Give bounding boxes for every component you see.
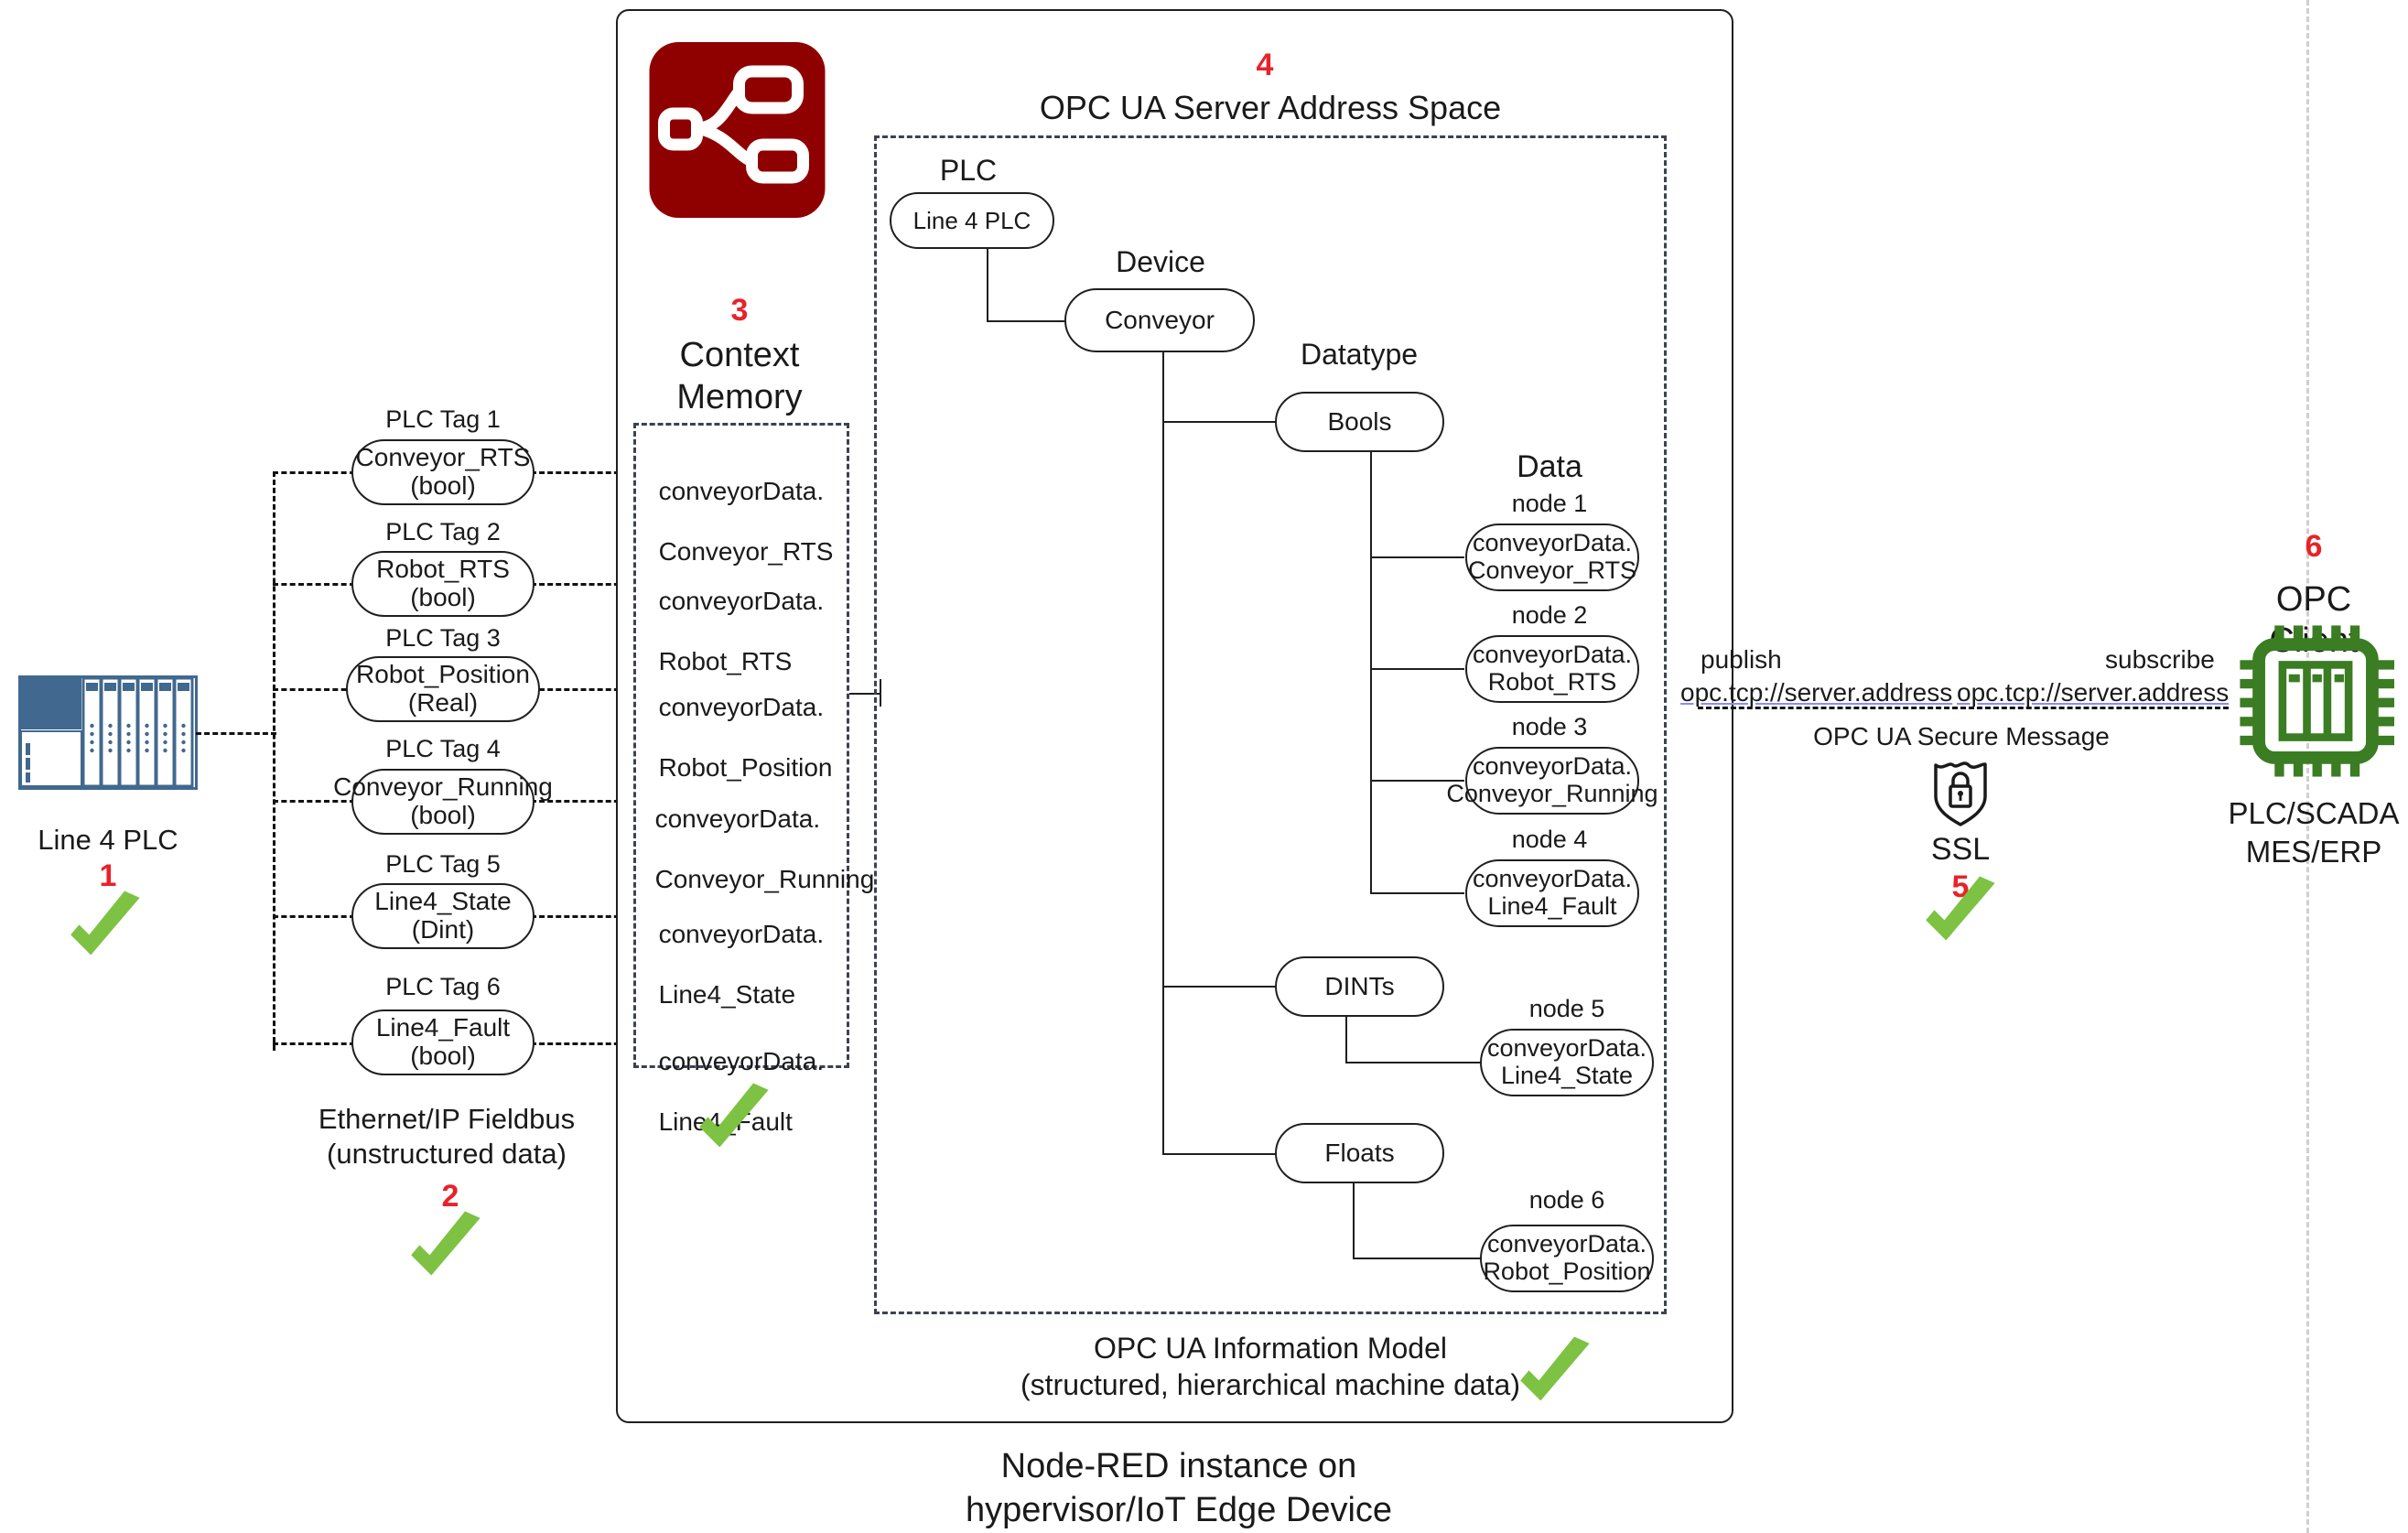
data-node-6[interactable]: conveyorData. Robot_Position [1480, 1225, 1654, 1292]
subscribe-address[interactable]: opc.tcp://server.address [1957, 677, 2229, 707]
data-node-suffix-1: Conveyor_RTS [1468, 557, 1636, 585]
tag-name-3: Robot_Position [356, 661, 530, 689]
data-node-prefix-6: conveyorData. [1483, 1231, 1650, 1258]
subscribe-label: subscribe [2105, 644, 2215, 675]
tag-header-6: PLC Tag 6 [385, 973, 501, 1002]
edge-caption-line2: hypervisor/IoT Edge Device [966, 1490, 1392, 1531]
fieldbus-bus-trunk [273, 471, 275, 1051]
tag-link-in-5 [273, 915, 355, 918]
dints-trunk [1345, 1017, 1347, 1063]
ssl-label: SSL [1931, 831, 1990, 868]
information-model-caption-line1: OPC UA Information Model [1094, 1332, 1447, 1366]
data-node-2[interactable]: conveyorData. Robot_RTS [1465, 635, 1639, 703]
data-node-3[interactable]: conveyorData. Conveyor_Running [1465, 747, 1639, 815]
tag-header-2: PLC Tag 2 [385, 518, 501, 547]
address-node-plc[interactable]: Line 4 PLC [890, 192, 1054, 249]
tag-pill-4[interactable]: Conveyor_Running (bool) [351, 769, 535, 835]
data-node-prefix-4: conveyorData. [1473, 866, 1632, 893]
context-entry-prefix-1: conveyorData. [659, 477, 825, 505]
context-entry-prefix-4: conveyorData. [655, 804, 821, 833]
bools-trunk [1370, 452, 1372, 894]
device-to-dints [1162, 986, 1277, 988]
tag-name-6: Line4_Fault [376, 1014, 510, 1042]
tag-header-1: PLC Tag 1 [385, 405, 501, 435]
check-1 [62, 886, 146, 970]
group-label-data: Data [1517, 448, 1582, 485]
data-node-header-6: node 6 [1529, 1186, 1605, 1215]
tag-type-5: (Dint) [374, 916, 511, 945]
tag-name-1: Conveyor_RTS [356, 444, 531, 472]
tag-link-in-3 [273, 688, 355, 691]
data-node-4[interactable]: conveyorData. Line4_Fault [1465, 859, 1639, 927]
tag-link-in-1 [273, 471, 355, 474]
device-trunk [1162, 352, 1164, 1154]
data-node-suffix-2: Robot_RTS [1473, 669, 1632, 696]
tag-pill-3[interactable]: Robot_Position (Real) [346, 656, 540, 722]
tag-header-3: PLC Tag 3 [385, 624, 501, 653]
context-entry-prefix-6: conveyorData. [659, 1047, 825, 1075]
address-node-datatype-bools[interactable]: Bools [1275, 392, 1444, 452]
check-4 [1512, 1332, 1596, 1416]
data-node-suffix-3: Conveyor_Running [1446, 781, 1658, 808]
context-entry-2: conveyorData. Robot_RTS [644, 556, 824, 676]
address-node-device-label: Conveyor [1105, 307, 1215, 335]
address-space-title: OPC UA Server Address Space [1040, 89, 1501, 127]
marker-4: 4 [1257, 48, 1274, 83]
tag-pill-2[interactable]: Robot_RTS (bool) [351, 551, 535, 617]
data-node-suffix-5: Line4_State [1487, 1063, 1647, 1090]
context-entry-prefix-5: conveyorData. [659, 920, 825, 948]
tag-name-4: Conveyor_Running [333, 773, 553, 802]
context-entry-4: conveyorData. Conveyor_Running [641, 773, 874, 894]
plc-rack-icon [18, 675, 198, 790]
check-3 [691, 1078, 775, 1162]
data-node-header-1: node 1 [1512, 490, 1588, 519]
tag-type-6: (bool) [376, 1042, 510, 1071]
secure-message-label: OPC UA Secure Message [1813, 721, 2110, 751]
fieldbus-plc-link [196, 732, 276, 735]
floats-to-node6 [1353, 1258, 1481, 1259]
bools-to-node2 [1370, 668, 1464, 670]
data-node-header-4: node 4 [1512, 826, 1588, 855]
tag-pill-5[interactable]: Line4_State (Dint) [351, 883, 535, 949]
tag-pill-1[interactable]: Conveyor_RTS (bool) [351, 439, 535, 505]
data-node-prefix-5: conveyorData. [1487, 1035, 1647, 1063]
tag-name-2: Robot_RTS [376, 556, 510, 584]
data-node-header-2: node 2 [1512, 601, 1588, 631]
context-memory-title-line2: Memory [676, 377, 802, 418]
tag-type-2: (bool) [376, 584, 510, 612]
data-node-prefix-2: conveyorData. [1473, 642, 1632, 669]
data-node-suffix-6: Robot_Position [1483, 1258, 1650, 1286]
check-2 [403, 1206, 487, 1290]
data-node-suffix-4: Line4_Fault [1473, 893, 1632, 921]
dints-to-node5 [1345, 1062, 1481, 1063]
shield-lock-icon [1930, 756, 1991, 827]
data-node-5[interactable]: conveyorData. Line4_State [1480, 1029, 1654, 1096]
cpu-chip-icon [2235, 622, 2396, 780]
tag-pill-6[interactable]: Line4_Fault (bool) [351, 1009, 535, 1075]
tag-name-5: Line4_State [374, 888, 511, 916]
address-node-datatype-floats-label: Floats [1324, 1139, 1394, 1168]
tag-header-5: PLC Tag 5 [385, 850, 501, 880]
address-node-datatype-floats[interactable]: Floats [1275, 1123, 1444, 1183]
address-node-plc-label: Line 4 PLC [913, 208, 1031, 234]
floats-trunk [1353, 1183, 1355, 1258]
plc-rack-label: Line 4 PLC [38, 824, 178, 858]
tag-type-4: (bool) [333, 802, 553, 830]
device-to-bools [1162, 421, 1277, 423]
address-node-datatype-bools-label: Bools [1327, 408, 1391, 437]
publish-label: publish [1701, 644, 1782, 675]
publish-address[interactable]: opc.tcp://server.address [1680, 677, 1952, 707]
marker-3: 3 [731, 293, 749, 329]
context-entry-1: conveyorData. Conveyor_RTS [644, 446, 833, 567]
plc-to-device-horizontal [987, 320, 1064, 322]
tag-type-3: (Real) [356, 689, 530, 718]
bools-to-node1 [1370, 556, 1464, 558]
fieldbus-caption-line1: Ethernet/IP Fieldbus [319, 1103, 575, 1137]
opc-client-subtitle-line2: MES/ERP [2246, 835, 2382, 870]
tag-header-4: PLC Tag 4 [385, 735, 501, 764]
context-entry-3: conveyorData. Robot_Position [644, 662, 832, 783]
context-memory-title-line1: Context [680, 335, 800, 376]
group-label-datatype: Datatype [1301, 338, 1418, 372]
data-node-header-5: node 5 [1529, 995, 1605, 1024]
opc-client-subtitle-line1: PLC/SCADA [2228, 796, 2399, 832]
tag-type-1: (bool) [356, 472, 531, 501]
data-node-1[interactable]: conveyorData. Conveyor_RTS [1465, 524, 1639, 591]
bools-to-node4 [1370, 892, 1464, 894]
context-entry-suffix-5: Line4_State [659, 980, 795, 1009]
device-to-floats [1162, 1153, 1277, 1155]
marker-6: 6 [2305, 529, 2323, 565]
context-entry-prefix-2: conveyorData. [659, 587, 825, 615]
data-node-prefix-1: conveyorData. [1468, 530, 1636, 557]
address-node-device[interactable]: Conveyor [1064, 288, 1255, 352]
node-red-logo [643, 38, 831, 221]
fieldbus-caption-line2: (unstructured data) [327, 1138, 567, 1171]
tag-link-in-6 [273, 1042, 355, 1045]
context-entry-5: conveyorData. Line4_State [644, 889, 824, 1009]
address-node-datatype-dints-label: DINTs [1324, 973, 1394, 1001]
data-node-header-3: node 3 [1512, 713, 1588, 742]
group-label-device: Device [1116, 245, 1205, 280]
edge-caption-line1: Node-RED instance on [1001, 1446, 1357, 1487]
address-node-datatype-dints[interactable]: DINTs [1275, 956, 1444, 1017]
context-entry-prefix-3: conveyorData. [659, 693, 825, 721]
group-label-plc: PLC [940, 154, 997, 189]
check-5 [1917, 871, 2002, 955]
plc-to-device-vertical [987, 249, 988, 320]
tag-link-in-2 [273, 583, 355, 586]
information-model-caption-line2: (structured, hierarchical machine data) [1020, 1368, 1520, 1403]
data-node-prefix-3: conveyorData. [1446, 753, 1658, 781]
